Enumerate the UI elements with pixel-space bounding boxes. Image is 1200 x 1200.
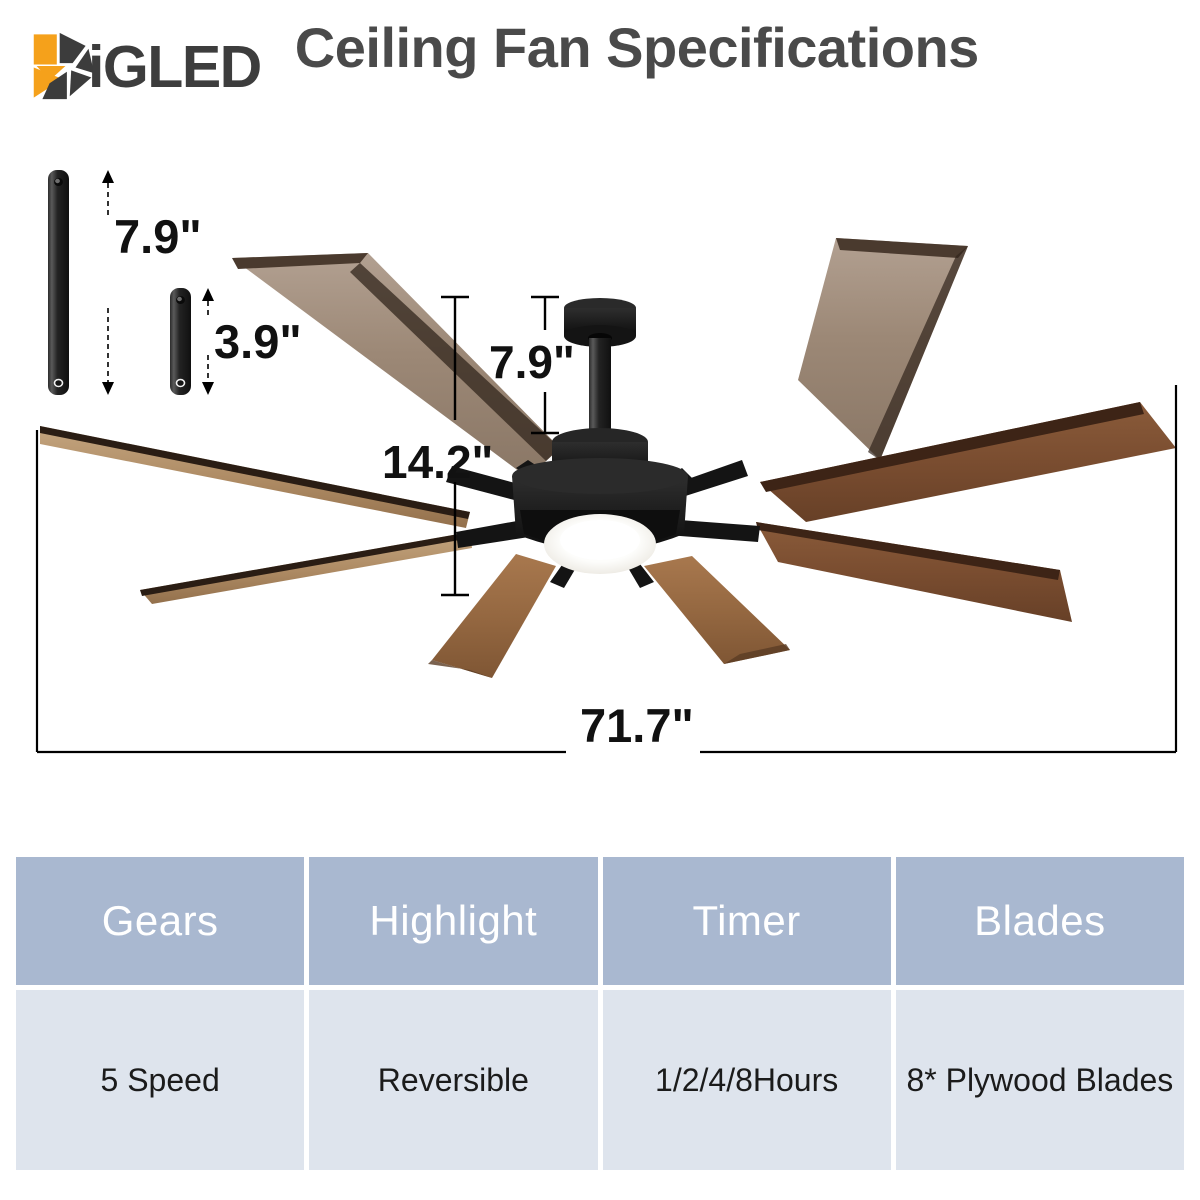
blade-left-lower bbox=[140, 532, 472, 604]
dimension-label-7-9-rod: 7.9" bbox=[114, 210, 202, 263]
arrow-up-icon bbox=[202, 288, 214, 301]
table-cell-gears: 5 Speed bbox=[16, 990, 304, 1170]
blade-right-upper bbox=[760, 402, 1176, 522]
table-row: 5 Speed Reversible 1/2/4/8Hours 8* Plywo… bbox=[16, 990, 1184, 1170]
long-downrod bbox=[48, 170, 69, 395]
table-cell-highlight: Reversible bbox=[309, 990, 597, 1170]
blade-right-lower bbox=[756, 522, 1072, 622]
arrow-up-icon bbox=[102, 170, 114, 183]
fan-diagram: 7.9" 3.9" bbox=[0, 130, 1200, 830]
table-header-gears: Gears bbox=[16, 857, 304, 985]
dimension-label-7-9-fan: 7.9" bbox=[489, 336, 575, 388]
page-title: Ceiling Fan Specifications bbox=[295, 20, 979, 76]
arrow-down-icon bbox=[202, 382, 214, 395]
dimension-label-3-9-rod: 3.9" bbox=[214, 315, 302, 368]
blade-upper-right bbox=[798, 238, 968, 460]
specification-table: Gears Highlight Timer Blades 5 Speed Rev… bbox=[16, 857, 1184, 1170]
downrod-installed bbox=[589, 338, 611, 434]
table-cell-timer: 1/2/4/8Hours bbox=[603, 990, 891, 1170]
table-header-row: Gears Highlight Timer Blades bbox=[16, 857, 1184, 985]
dimension-label-71-7: 71.7" bbox=[580, 699, 694, 752]
table-cell-blades: 8* Plywood Blades bbox=[896, 990, 1184, 1170]
brand-wordmark: iGLED bbox=[88, 38, 261, 97]
blade-bottom-right bbox=[644, 556, 790, 664]
table-header-timer: Timer bbox=[603, 857, 891, 985]
arrow-down-icon bbox=[102, 382, 114, 395]
table-header-highlight: Highlight bbox=[309, 857, 597, 985]
table-header-blades: Blades bbox=[896, 857, 1184, 985]
dimension-label-14-2: 14.2" bbox=[382, 436, 493, 488]
short-downrod bbox=[170, 288, 191, 395]
page-header: iGLED Ceiling Fan Specifications bbox=[0, 0, 1200, 130]
blade-bottom-left bbox=[428, 554, 556, 678]
